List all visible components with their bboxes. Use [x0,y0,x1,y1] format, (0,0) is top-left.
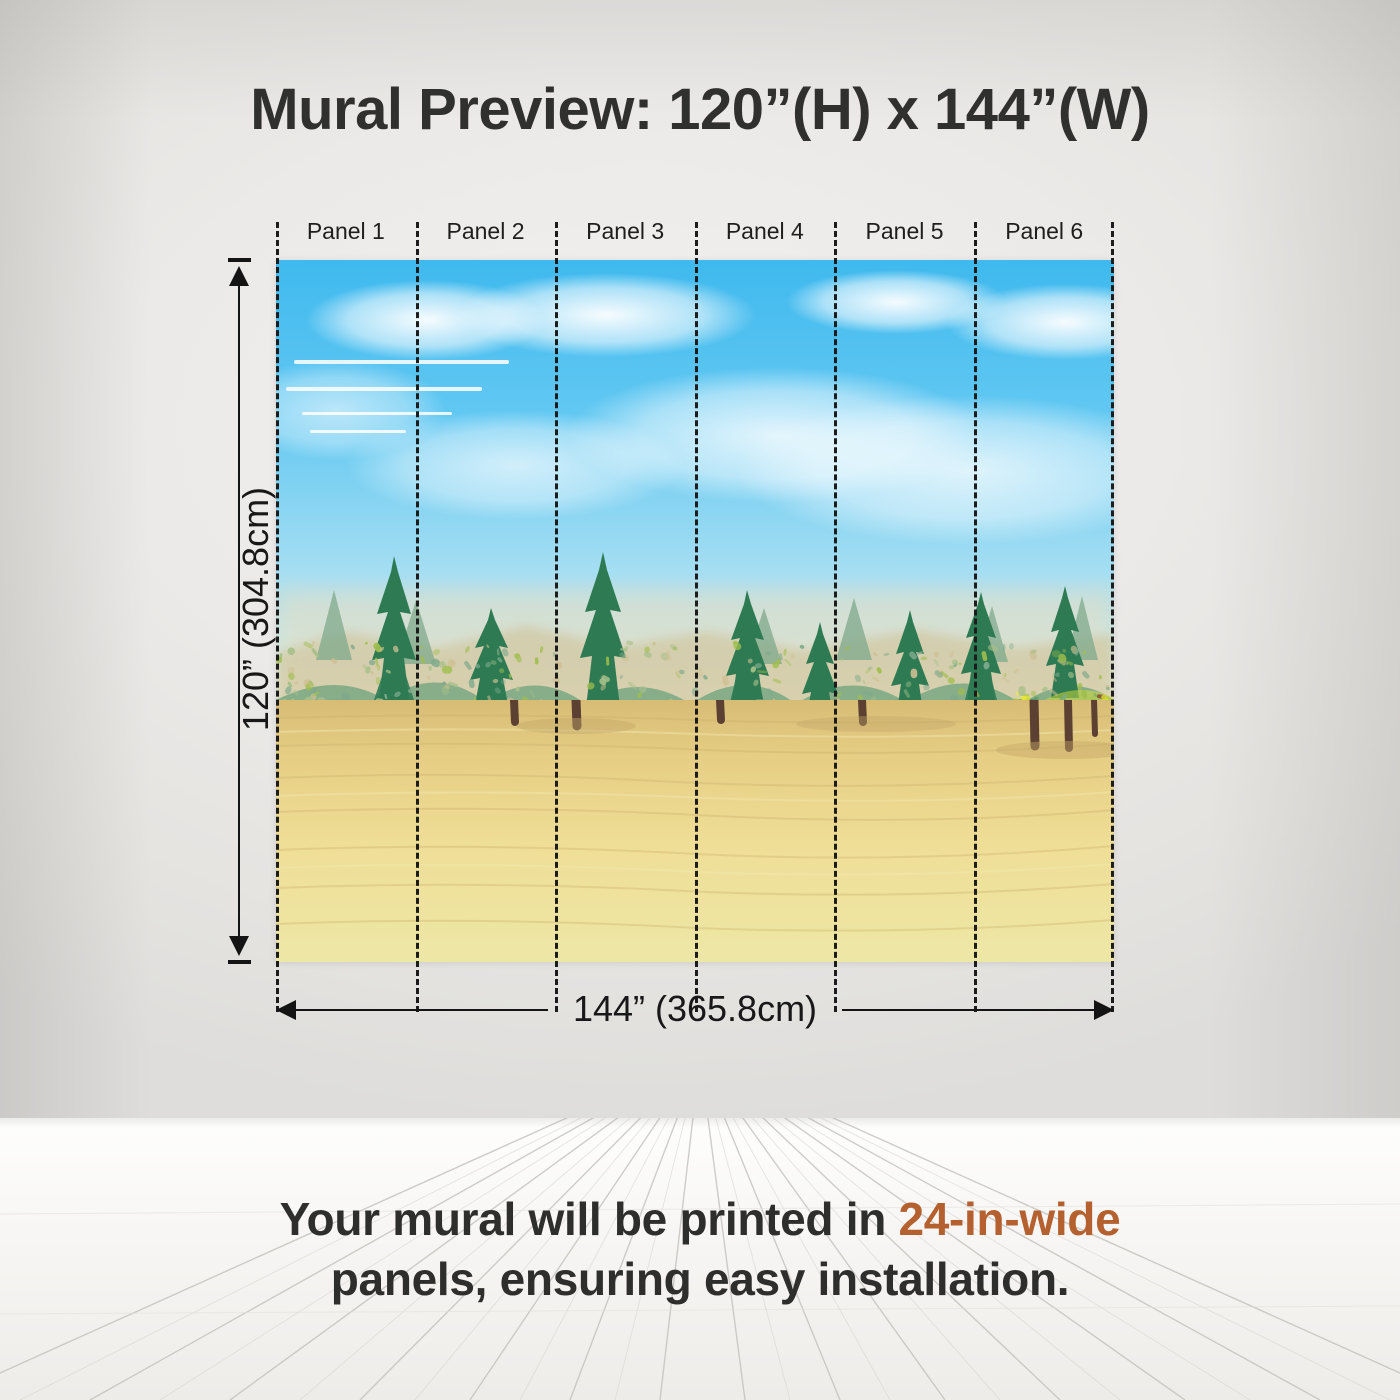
caption-line-2: panels, ensuring easy installation. [0,1250,1400,1310]
height-cap-bottom [228,960,251,964]
panel-divider-3 [695,222,698,1012]
caption-line-1: Your mural will be printed in 24-in-wide [0,1190,1400,1250]
width-arrow-right-icon [1094,1000,1114,1020]
panel-label-1: Panel 1 [276,212,416,250]
panel-label-2: Panel 2 [416,212,556,250]
caption: Your mural will be printed in 24-in-wide… [0,1190,1400,1310]
panel-label-3: Panel 3 [555,212,695,250]
width-dimension: 144” (365.8cm) [276,993,1114,1027]
panel-divider-4 [834,222,837,1012]
page-title: Mural Preview: 120”(H) x 144”(W) [0,76,1400,143]
caption-text-before: Your mural will be printed in [280,1193,899,1245]
panel-label-6: Panel 6 [974,212,1114,250]
panel-divider-1 [416,222,419,1012]
panel-label-5: Panel 5 [835,212,975,250]
caption-accent: 24-in-wide [898,1193,1120,1245]
height-dimension: 120” (304.8cm) [222,258,256,964]
width-line-right [842,1009,1100,1011]
floor-top-edge [0,1118,1400,1128]
wall-left-shadow [0,0,150,1118]
wall-right-shadow [1210,0,1400,1118]
panel-divider-6 [1111,222,1114,1012]
panel-divider-5 [974,222,977,1012]
height-arrow-up-icon [229,266,249,286]
height-cap-top [228,258,251,262]
height-arrow-down-icon [229,936,249,956]
height-label: 120” (304.8cm) [235,289,277,929]
panel-label-4: Panel 4 [695,212,835,250]
panel-divider-2 [555,222,558,1012]
